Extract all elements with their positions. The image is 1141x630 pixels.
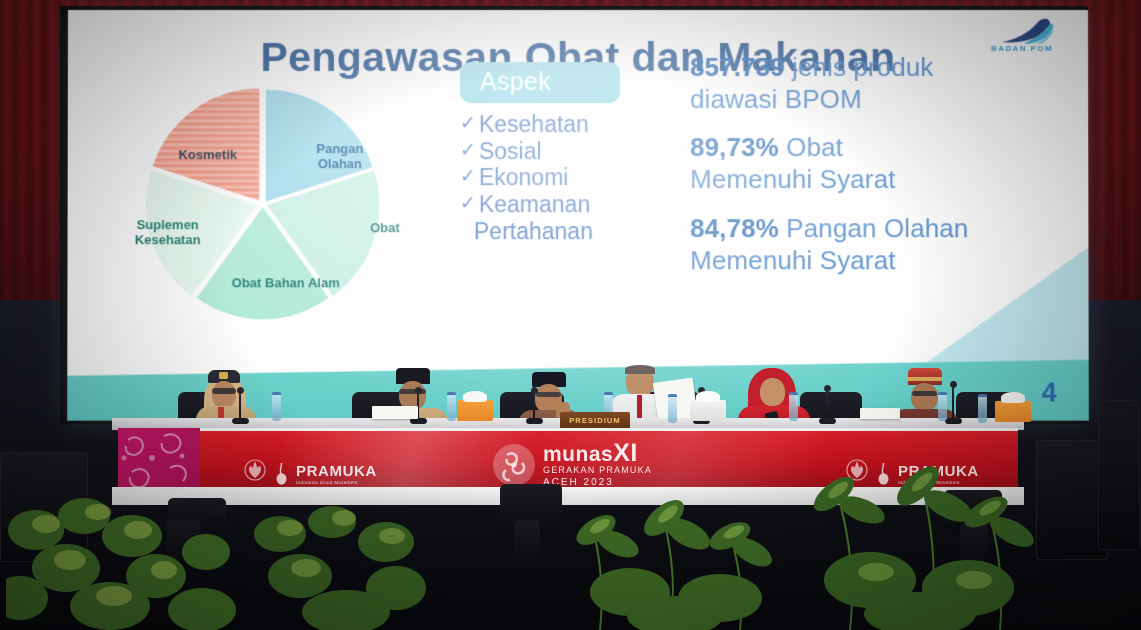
aspek-list: ✓ Kesehatan ✓ Sosial ✓ Ekonomi ✓ Keamana…	[460, 111, 650, 245]
tissue-box-2	[690, 400, 726, 421]
aspek-item-label: Ekonomi	[479, 164, 569, 191]
water-bottle-1	[272, 392, 281, 421]
microphone-head-icon	[415, 387, 422, 394]
stat-number: 857.739	[690, 52, 785, 82]
microphone-6	[952, 386, 954, 420]
stat-text: Pangan Olahan	[779, 213, 969, 243]
water-bottle-7	[978, 394, 987, 423]
microphone-head-icon	[824, 385, 831, 392]
pie-chart: Pangan Olahan Obat Obat Bahan Alam Suple…	[97, 86, 428, 321]
foliage-svg	[560, 470, 790, 630]
microphone-base	[819, 418, 836, 424]
stat-pangan-olahan-memenuhi-syarat: 84,78% Pangan Olahan Memenuhi Syarat	[690, 213, 1055, 277]
check-icon: ✓	[460, 138, 476, 164]
tissue-sheet	[1001, 392, 1025, 403]
photo-scene: Pengawasan Obat dan Makanan BADAN POM	[0, 0, 1141, 630]
scout-emblem-left	[244, 457, 266, 488]
world-scout-emblem-icon	[244, 457, 266, 483]
stat-text: jenis produk	[785, 52, 934, 82]
aspek-heading-text: Aspek	[480, 68, 551, 97]
pramuka-subtitle: Indonesia Scout Movement	[296, 480, 377, 485]
foliage-svg	[790, 450, 1040, 630]
pie-chart-svg	[97, 86, 428, 321]
presidium-nameplate: PRESIDIUM	[560, 412, 630, 429]
water-bottle-6	[938, 392, 947, 421]
stat-line2: Memenuhi Syarat	[690, 164, 1055, 196]
plant-left	[6, 490, 236, 630]
aspek-item-sosial: ✓ Sosial	[460, 138, 650, 165]
desk-papers-2	[860, 408, 900, 419]
microphone-head-icon	[531, 387, 538, 394]
tunas-kelapa-icon	[272, 462, 291, 486]
microphone-5	[826, 390, 828, 420]
aspek-heading-chip: Aspek	[460, 62, 620, 103]
plant-right	[790, 450, 1040, 630]
stat-obat-memenuhi-syarat: 89,73% Obat Memenuhi Syarat	[690, 132, 1055, 196]
tissue-sheet	[696, 391, 720, 402]
microphone-base	[526, 418, 543, 424]
check-icon: ✓	[460, 191, 476, 217]
plant-center	[560, 470, 790, 630]
batik-side-panel	[118, 428, 200, 490]
aspek-item-keamanan-line2: Pertahanan	[460, 218, 650, 245]
check-icon: ✓	[460, 111, 476, 137]
stat-text: Obat	[779, 132, 843, 162]
tissue-box-1	[457, 400, 493, 421]
tissue-sheet	[463, 391, 487, 402]
plant-center-left	[246, 498, 446, 630]
aspek-item-kesehatan: ✓ Kesehatan	[460, 111, 650, 138]
water-bottle-5	[789, 392, 798, 421]
munas-roman: XI	[613, 439, 638, 467]
stat-line2: diawasi BPOM	[690, 84, 1055, 116]
stat-line2: Memenuhi Syarat	[690, 245, 1055, 277]
microphone-base	[945, 418, 962, 424]
statistics-block: 857.739 jenis produk diawasi BPOM 89,73%…	[690, 52, 1055, 294]
stat-produk-diawasi: 857.739 jenis produk diawasi BPOM	[690, 52, 1055, 115]
stage-light-4	[514, 520, 540, 564]
bpom-swoosh-icon	[1000, 18, 1054, 44]
presentation-screen: Pengawasan Obat dan Makanan BADAN POM	[67, 10, 1089, 421]
aspek-item-label: Sosial	[479, 138, 542, 165]
aceh-pinto-motif-icon	[492, 443, 536, 487]
stat-number: 84,78%	[690, 213, 779, 243]
aspek-item-ekonomi: ✓ Ekonomi	[460, 164, 650, 191]
check-icon: ✓	[460, 164, 476, 190]
microphone-base	[232, 418, 249, 424]
slide-page-number: 4	[1042, 378, 1057, 409]
microphone-head-icon	[237, 387, 244, 394]
microphone-3	[533, 392, 535, 420]
microphone-head-icon	[950, 381, 957, 388]
microphone-1	[239, 392, 241, 420]
munas-acronym: munas	[543, 443, 613, 466]
aspek-item-label: Kesehatan	[479, 111, 589, 138]
foliage-svg	[6, 490, 236, 630]
aspek-item-label: Keamanan	[479, 191, 590, 218]
water-bottle-4	[668, 394, 677, 423]
aspek-item-keamanan: ✓ Keamanan	[460, 191, 650, 218]
water-bottle-2	[447, 392, 456, 421]
desk-papers-1	[372, 406, 418, 419]
pramuka-logo-left: PRAMUKA Indonesia Scout Movement	[272, 462, 377, 486]
foliage-svg	[246, 498, 446, 630]
aspek-block: Aspek ✓ Kesehatan ✓ Sosial ✓ Ekonomi ✓ K…	[460, 62, 650, 245]
pramuka-wordmark: PRAMUKA	[296, 463, 377, 480]
batik-pattern-icon	[118, 428, 200, 490]
tissue-box-3	[995, 401, 1031, 422]
speaker-stack-far-right	[1098, 400, 1140, 550]
stat-number: 89,73%	[690, 132, 779, 162]
